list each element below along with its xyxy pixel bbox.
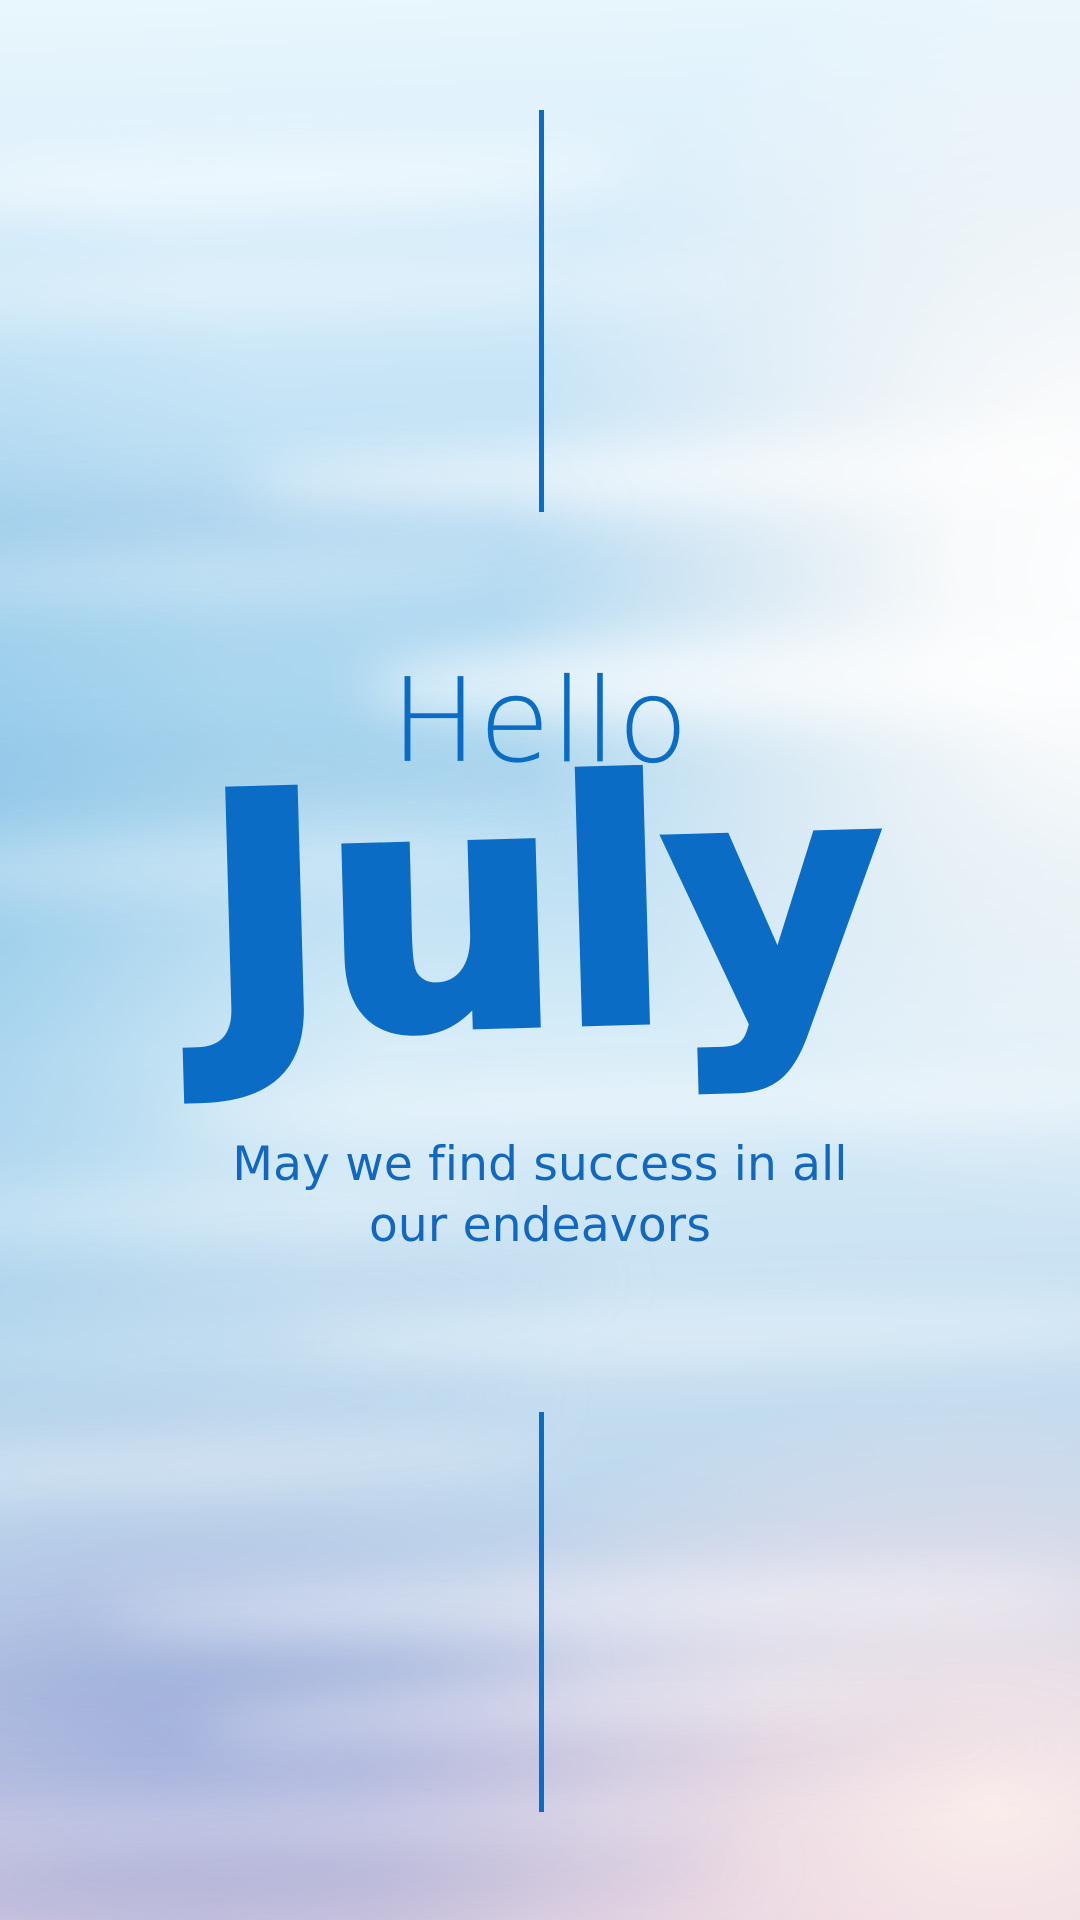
tagline-line-1: May we find success in all (0, 1134, 1080, 1195)
poster-content: Hello July May we find success in all ou… (0, 0, 1080, 1920)
tagline-block: May we find success in all our endeavors (0, 1134, 1080, 1256)
tagline-line-2: our endeavors (0, 1195, 1080, 1256)
poster-canvas: Hello July May we find success in all ou… (0, 0, 1080, 1920)
month-title: July (0, 729, 1080, 1090)
